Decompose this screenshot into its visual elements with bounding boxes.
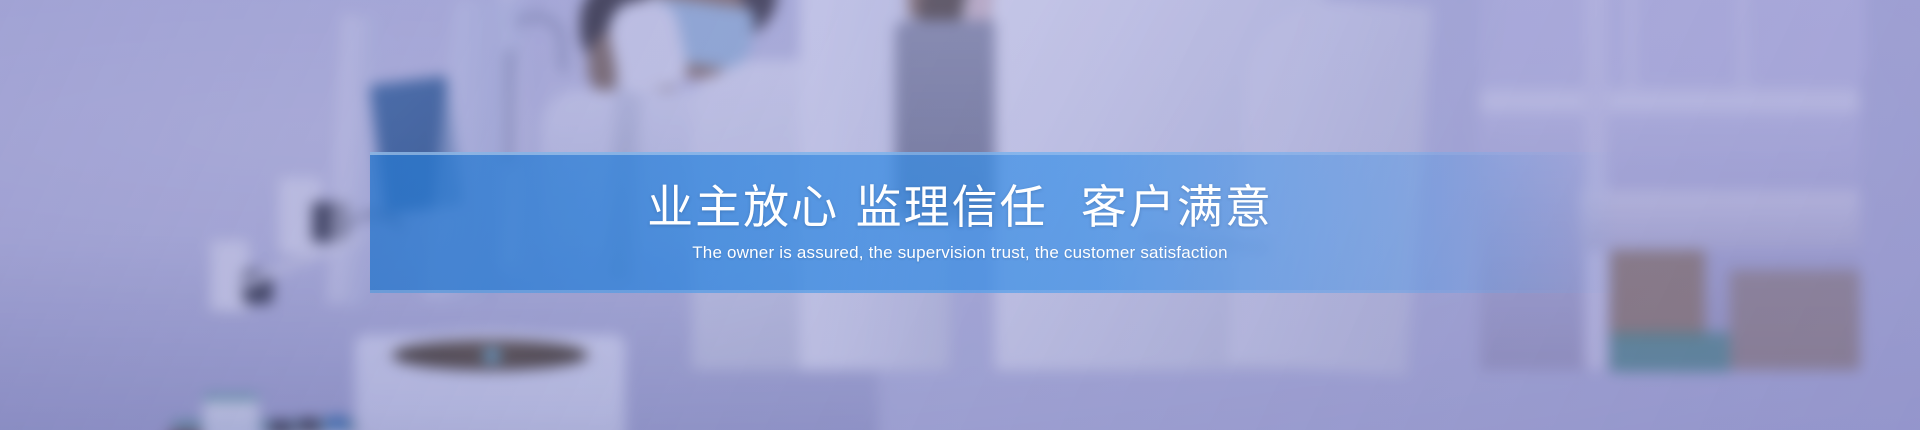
caption-text-group: 业主放心 监理信任 客户满意 The owner is assured, the… — [0, 152, 1920, 293]
banner-headline: 业主放心 监理信任 客户满意 — [647, 182, 1273, 234]
banner-subheadline: The owner is assured, the supervision tr… — [692, 243, 1228, 263]
hero-banner: 业主放心 监理信任 客户满意 The owner is assured, the… — [0, 0, 1920, 430]
